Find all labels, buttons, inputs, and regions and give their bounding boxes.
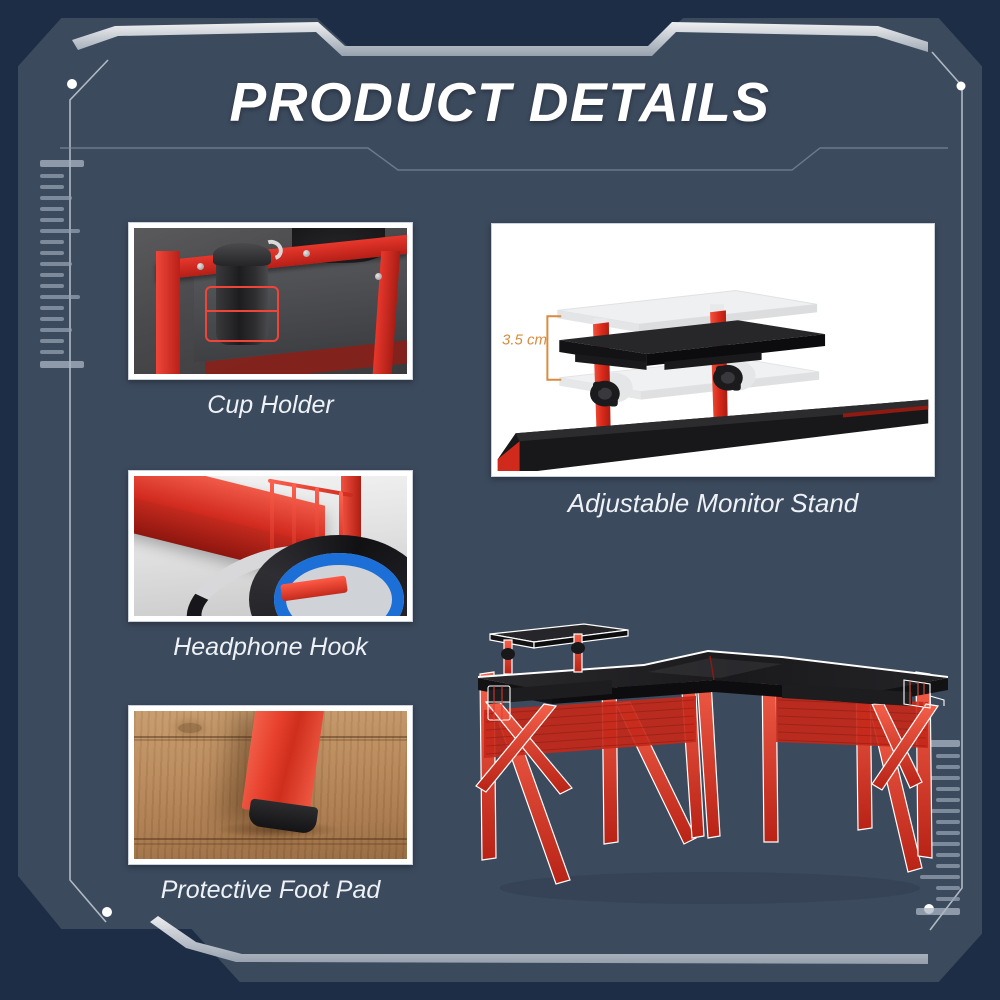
monitor-stand-drawing — [497, 229, 929, 471]
protective-foot-pad-photo — [128, 705, 413, 865]
feature-caption: Cup Holder — [128, 391, 413, 420]
infographic-stage: PRODUCT DETAILS — [0, 0, 1000, 1000]
feature-card-protective-foot-pad: Protective Foot Pad — [128, 705, 413, 905]
adjustable-monitor-stand-photo: 3.5 cm — [491, 223, 935, 477]
cup-holder-ring — [205, 286, 279, 341]
feature-caption: Headphone Hook — [128, 633, 413, 662]
cup-holder-photo — [128, 222, 413, 380]
dimension-bracket — [547, 316, 561, 379]
desk-monitor-stand — [490, 624, 628, 674]
dimension-label: 3.5 cm — [502, 332, 547, 349]
feature-caption: Protective Foot Pad — [128, 876, 413, 905]
headphone-hook-photo — [128, 470, 413, 622]
feature-card-cup-holder: Cup Holder — [128, 222, 413, 420]
desk-surface — [498, 400, 928, 471]
feature-caption: Adjustable Monitor Stand — [491, 488, 935, 519]
ruler-left — [40, 160, 84, 368]
feature-card-adjustable-monitor-stand: 3.5 cm Adjustable Monitor Stand — [491, 223, 935, 519]
page-title: PRODUCT DETAILS — [0, 70, 1000, 134]
product-illustration — [452, 592, 968, 912]
feature-card-headphone-hook: Headphone Hook — [128, 470, 413, 662]
